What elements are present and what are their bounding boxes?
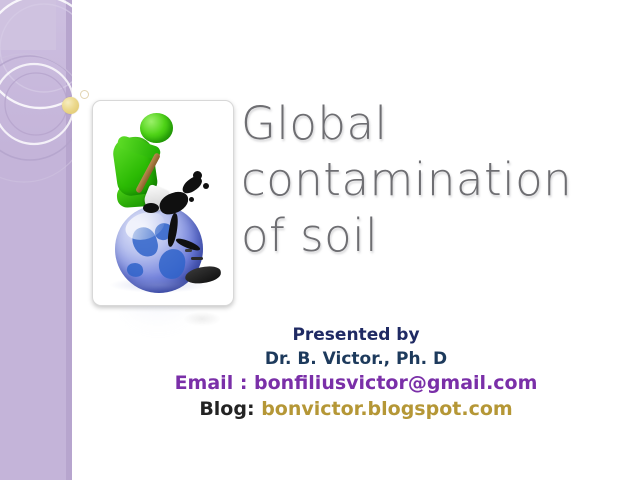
continent-shape <box>157 247 187 280</box>
title-line-1: Global <box>241 96 636 152</box>
title-image-frame <box>92 100 234 306</box>
continent-shape <box>126 262 144 278</box>
oil-droplet <box>193 171 202 180</box>
oil-speck <box>185 249 192 252</box>
gold-dot-accent <box>62 97 79 114</box>
title-line-2: contamination <box>241 152 636 208</box>
page-title: Global contamination of soil <box>241 96 636 264</box>
band-corner-block <box>0 0 56 50</box>
oil-speck <box>191 257 203 260</box>
blog-separator: : <box>247 398 261 420</box>
blog-line: Blog: bonvictor.blogspot.com <box>72 396 640 422</box>
decorative-left-band <box>0 0 72 480</box>
presentation-slide: Global contamination of soil Presented b… <box>0 0 640 480</box>
oil-droplet <box>203 183 209 189</box>
figure-head <box>140 113 173 143</box>
blog-url[interactable]: bonvictor.blogspot.com <box>261 398 513 420</box>
author-name: Dr. B. Victor., Ph. D <box>72 347 640 371</box>
oil-splash <box>143 203 159 213</box>
oil-droplet <box>189 197 194 202</box>
image-illustration <box>93 101 233 305</box>
subtitle-block: Presented by Dr. B. Victor., Ph. D Email… <box>72 324 640 422</box>
small-ring-accent <box>80 90 89 99</box>
email-line: Email : bonfiliusvictor@gmail.com <box>72 371 640 396</box>
presented-by-label: Presented by <box>72 324 640 347</box>
title-line-3: of soil <box>241 208 636 264</box>
blog-label: Blog <box>199 398 247 420</box>
